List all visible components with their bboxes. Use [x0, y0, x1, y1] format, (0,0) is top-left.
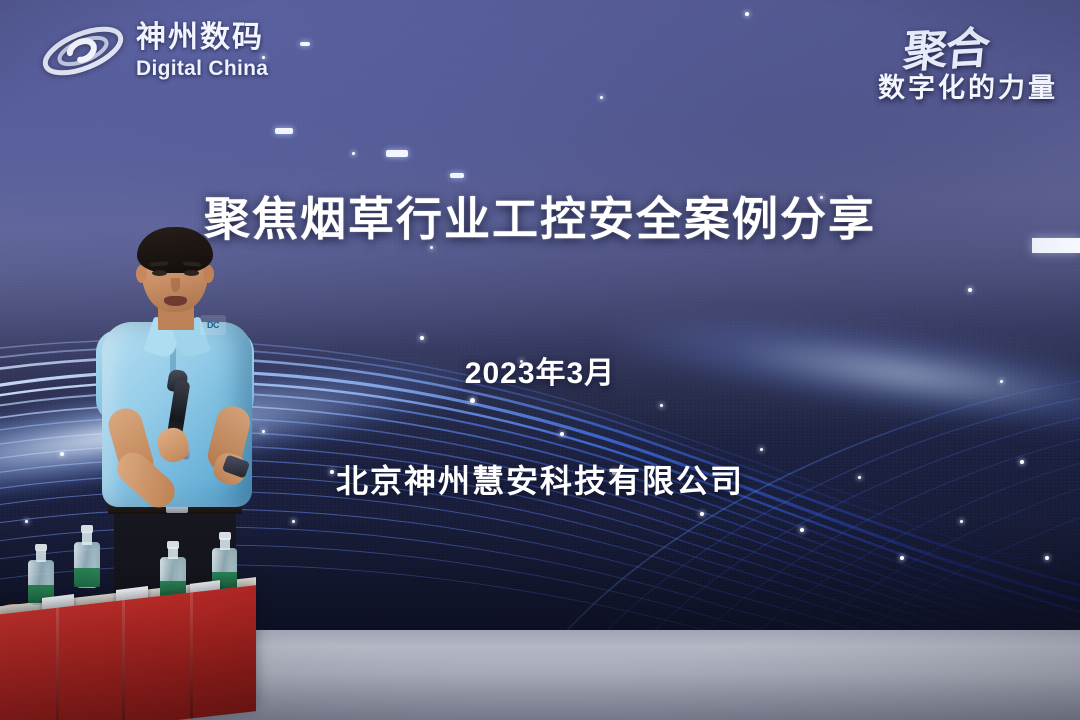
screen-edge-light-bar	[1032, 238, 1080, 253]
event-theme-logo: 聚合 数字化的力量	[878, 14, 1058, 105]
shirt-chest-logo: DC	[200, 315, 226, 335]
conference-stage-photo: 神州数码 Digital China 聚合 数字化的力量 聚焦烟草行业工控安全案…	[0, 0, 1080, 720]
speaker-eye-right	[184, 270, 199, 276]
digital-china-swirl-icon	[40, 18, 126, 84]
digital-china-logo: 神州数码 Digital China	[40, 18, 268, 84]
shirt-logo-text: DC	[200, 315, 226, 335]
speaker-hair	[137, 227, 213, 273]
water-bottle	[74, 542, 100, 606]
logo-name-en: Digital China	[136, 58, 268, 79]
speaker-nose	[171, 278, 180, 292]
theme-calligraphy: 聚合	[901, 12, 991, 80]
logo-name-cn: 神州数码	[136, 23, 268, 53]
speaker-mouth	[164, 296, 187, 306]
speaker-eye-left	[152, 270, 167, 276]
